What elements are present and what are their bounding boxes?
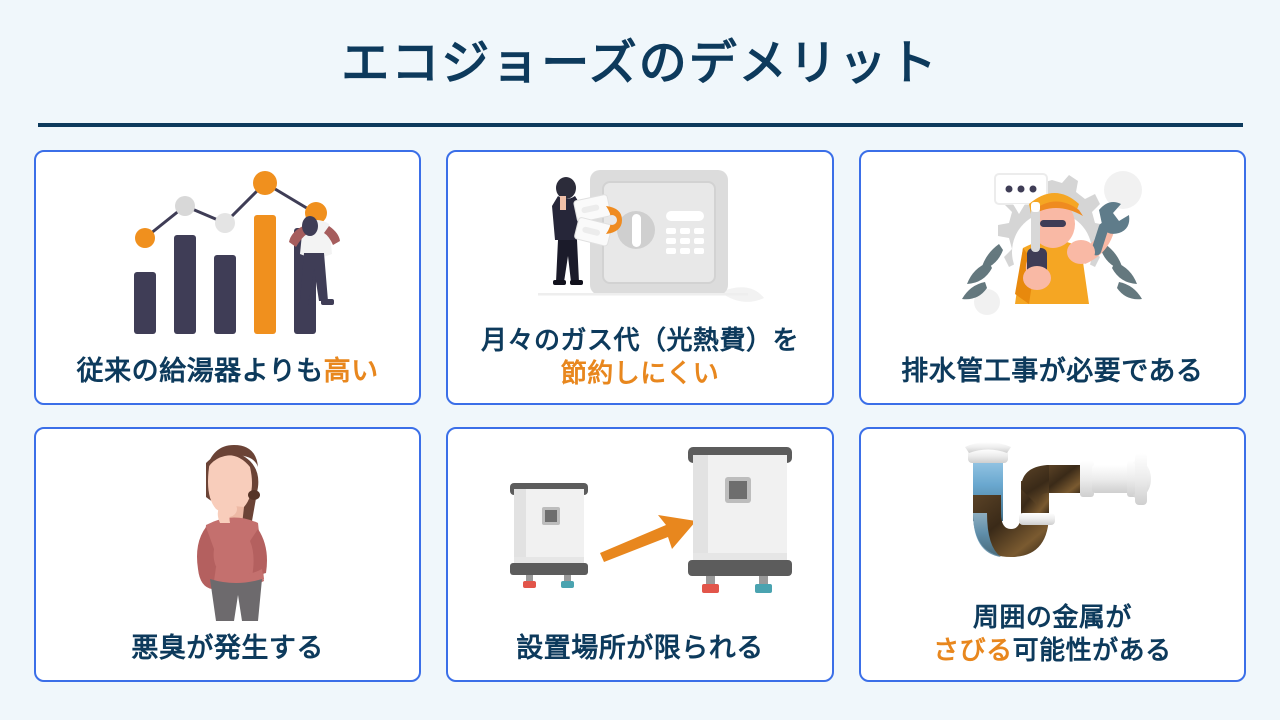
card-caption: 排水管工事が必要である [901, 322, 1203, 390]
caption-segment: 従来の給湯器よりも [77, 356, 324, 386]
demerit-card-cost-higher[interactable]: 従来の給湯器よりも高い [34, 150, 421, 405]
caption-segment-highlight: 高い [324, 356, 379, 386]
demerit-card-drain-pipe-work[interactable]: 排水管工事が必要である [859, 150, 1246, 405]
caption-segment: 悪臭が発生する [131, 633, 324, 663]
caption-segment-highlight: 節約しにくい [561, 358, 719, 388]
card-caption: 月々のガス代（光熱費）を節約しにくい [481, 292, 799, 390]
demerit-card-gas-bill-savings[interactable]: 月々のガス代（光熱費）を節約しにくい [446, 150, 833, 405]
page-title: エコジョーズのデメリット [0, 36, 1280, 91]
demerit-card-bad-odor[interactable]: 悪臭が発生する [34, 427, 421, 682]
card-caption: 従来の給湯器よりも高い [77, 322, 379, 390]
card-caption: 周囲の金属がさびる可能性がある [933, 569, 1172, 667]
demerit-card-install-location-limited[interactable]: 設置場所が限られる [446, 427, 833, 682]
demerit-card-grid: 従来の給湯器よりも高い [34, 150, 1246, 682]
card-caption: 設置場所が限られる [516, 599, 764, 667]
caption-segment: 設置場所が限られる [516, 633, 764, 663]
infographic-page: エコジョーズのデメリット [0, 0, 1280, 720]
caption-segment: 月々のガス代（光熱費）を [481, 325, 799, 355]
title-divider [38, 123, 1243, 127]
caption-segment: 周囲の金属が [973, 602, 1132, 632]
caption-segment: 可能性がある [1013, 635, 1172, 665]
demerit-card-metal-rust[interactable]: 周囲の金属がさびる可能性がある [859, 427, 1246, 682]
caption-segment-highlight: さびる [933, 635, 1013, 665]
caption-segment: 排水管工事が必要である [901, 356, 1203, 386]
card-caption: 悪臭が発生する [131, 599, 324, 667]
